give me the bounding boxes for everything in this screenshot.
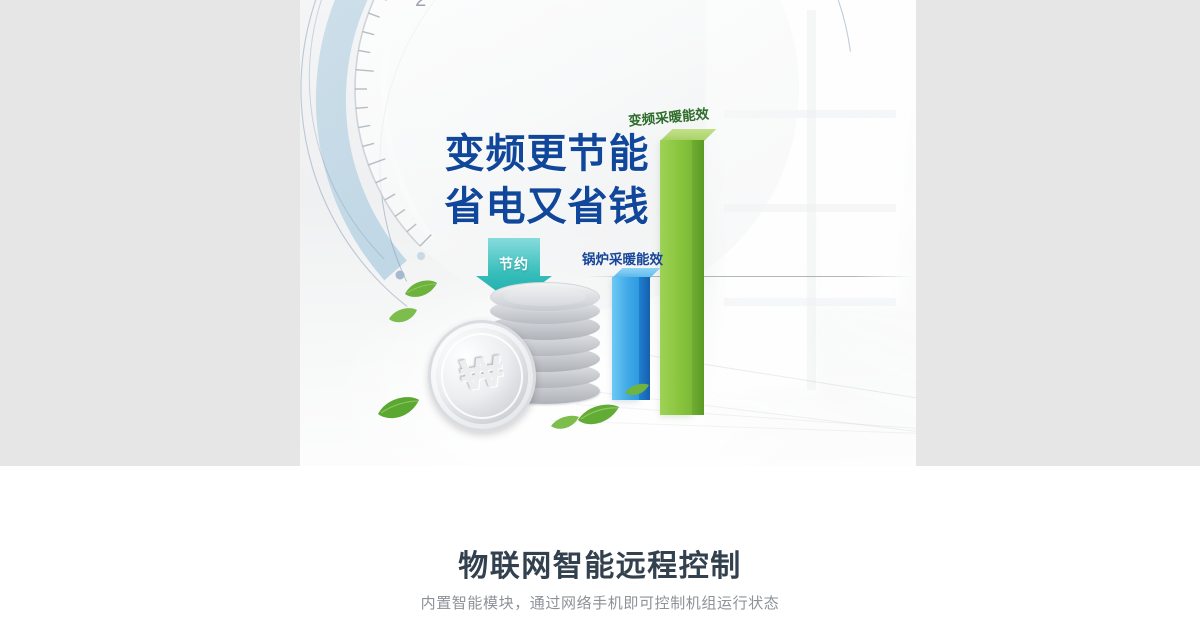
bar-inverter-front xyxy=(660,140,692,415)
leaf-icon xyxy=(624,382,650,403)
bar-label-boiler: 锅炉采暖能效 xyxy=(582,248,663,268)
hero-banner: 2 3 变频更节能 省电又省钱 xyxy=(0,0,1200,466)
save-arrow-label: 节约 xyxy=(476,254,552,274)
bar-inverter xyxy=(660,140,704,415)
section-title: 物联网智能远程控制 xyxy=(0,541,1200,585)
coin-stack-illustration: ₩ xyxy=(428,282,628,432)
bar-inverter-side xyxy=(692,140,704,415)
leaf-icon xyxy=(576,402,620,433)
leaf-icon xyxy=(388,306,418,331)
leaf-icon xyxy=(404,278,438,305)
bar-label-inverter: 变频采暖能效 xyxy=(627,102,709,129)
page-root: 2 3 变频更节能 省电又省钱 xyxy=(0,0,1200,631)
leaf-icon xyxy=(550,414,580,437)
coin-disc-top-inner xyxy=(504,288,586,306)
feature-section: 物联网智能远程控制 内置智能模块，通过网络手机即可控制机组运行状态 xyxy=(0,466,1200,631)
hero-photo: 2 3 变频更节能 省电又省钱 xyxy=(300,0,916,466)
won-symbol-icon: ₩ xyxy=(428,342,536,406)
section-subtitle: 内置智能模块，通过网络手机即可控制机组运行状态 xyxy=(0,592,1200,613)
leaf-icon xyxy=(376,394,420,427)
